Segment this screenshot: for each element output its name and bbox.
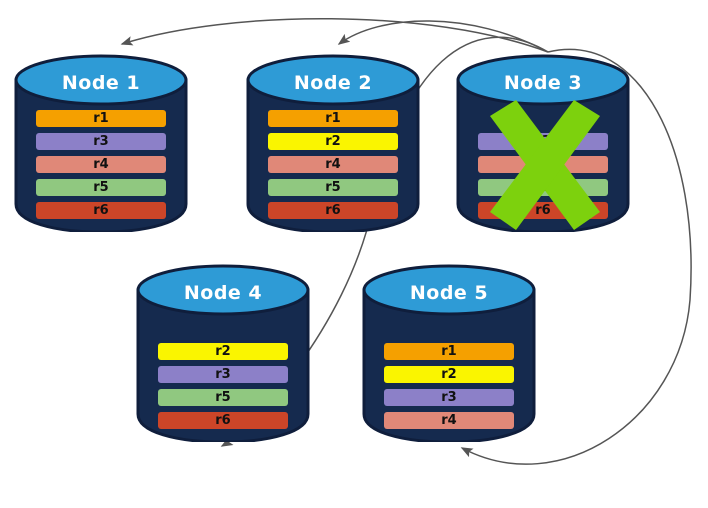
record-bar[interactable]: r4 — [384, 412, 514, 429]
record-list: r1r2r3r4 — [384, 343, 514, 435]
node-3[interactable]: Node 3r3r4r5r6 — [456, 54, 630, 232]
node-label: Node 4 — [136, 282, 310, 304]
node-label: Node 5 — [362, 282, 536, 304]
arrow-node3-to-node1 — [122, 19, 548, 52]
record-bar[interactable]: r4 — [268, 156, 398, 173]
arrow-node3-to-node2 — [339, 21, 548, 52]
record-bar[interactable]: r6 — [158, 412, 288, 429]
node-2[interactable]: Node 2r1r2r4r5r6 — [246, 54, 420, 232]
record-bar[interactable]: r1 — [36, 110, 166, 127]
record-bar[interactable]: r5 — [268, 179, 398, 196]
record-bar[interactable]: r3 — [384, 389, 514, 406]
record-bar[interactable]: r3 — [36, 133, 166, 150]
record-list: r1r3r4r5r6 — [36, 110, 166, 225]
record-bar[interactable]: r3 — [158, 366, 288, 383]
record-list: r2r3r5r6 — [158, 343, 288, 435]
record-bar[interactable]: r2 — [158, 343, 288, 360]
replication-diagram: Node 1r1r3r4r5r6Node 2r1r2r4r5r6Node 3r3… — [0, 0, 708, 508]
record-bar[interactable]: r1 — [268, 110, 398, 127]
record-bar[interactable]: r6 — [36, 202, 166, 219]
record-list: r1r2r4r5r6 — [268, 110, 398, 225]
record-bar[interactable]: r5 — [36, 179, 166, 196]
node-label: Node 1 — [14, 72, 188, 94]
record-bar[interactable]: r5 — [158, 389, 288, 406]
node-5[interactable]: Node 5r1r2r3r4 — [362, 264, 536, 442]
node-1[interactable]: Node 1r1r3r4r5r6 — [14, 54, 188, 232]
record-bar[interactable]: r6 — [268, 202, 398, 219]
node-label: Node 3 — [456, 72, 630, 94]
record-bar[interactable]: r2 — [268, 133, 398, 150]
node-failure-x-icon — [486, 100, 604, 230]
record-bar[interactable]: r2 — [384, 366, 514, 383]
node-4[interactable]: Node 4r2r3r5r6 — [136, 264, 310, 442]
record-bar[interactable]: r1 — [384, 343, 514, 360]
record-bar[interactable]: r4 — [36, 156, 166, 173]
node-label: Node 2 — [246, 72, 420, 94]
